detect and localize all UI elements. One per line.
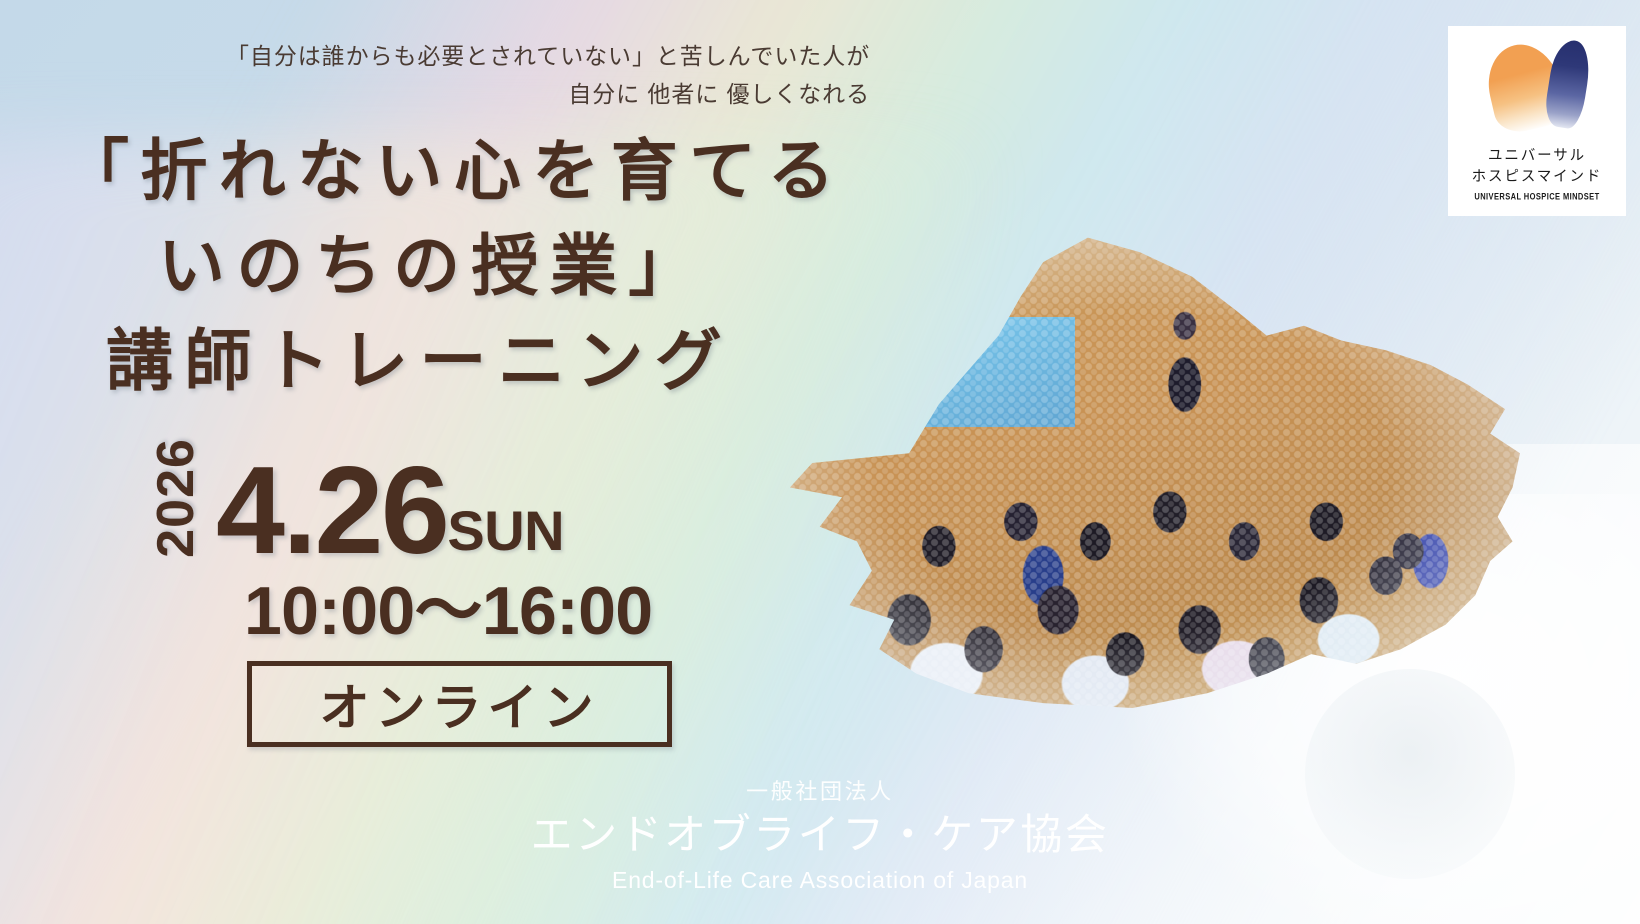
event-year: 2026 <box>150 438 202 558</box>
logo-text-jp-line-1: ユニバーサル <box>1472 146 1603 167</box>
logo-heart-icon <box>1483 38 1591 134</box>
lecture-photo <box>775 218 1520 708</box>
event-day: 4.26 <box>216 457 447 566</box>
title-line-3: 講師トレーニング <box>0 314 820 409</box>
date-row: 2026 4.26 SUN <box>0 436 700 566</box>
tagline-line-2: 自分に 他者に 優しくなれる <box>0 76 870 114</box>
poster-canvas: 「自分は誰からも必要とされていない」と苦しんでいた人が 自分に 他者に 優しくな… <box>0 0 1640 924</box>
event-day-of-week: SUN <box>447 503 564 559</box>
logo-text-jp: ユニバーサル ホスピスマインド <box>1472 146 1603 187</box>
title-line-1: 「折れない心を育てる <box>0 124 820 219</box>
logo-text-en: UNIVERSAL HOSPICE MINDSET <box>1474 191 1599 202</box>
photo-stipple-texture <box>775 218 1520 708</box>
organization-name-en: End-of-Life Care Association of Japan <box>0 865 1640 896</box>
venue-badge: オンライン <box>247 661 672 747</box>
organization-footer: 一般社団法人 エンドオブライフ・ケア協会 End-of-Life Care As… <box>0 778 1640 896</box>
venue-label: オンライン <box>320 668 600 740</box>
tagline-line-1: 「自分は誰からも必要とされていない」と苦しんでいた人が <box>0 38 870 76</box>
lecture-photo-image <box>775 218 1520 708</box>
tagline: 「自分は誰からも必要とされていない」と苦しんでいた人が 自分に 他者に 優しくな… <box>0 38 870 114</box>
event-time: 10:00〜16:00 <box>0 574 700 649</box>
logo-navy-leaf-icon <box>1542 38 1593 131</box>
title-line-2: いのちの授業」 <box>0 219 820 314</box>
photo-edge-fade <box>775 218 1520 708</box>
logo-text-jp-line-2: ホスピスマインド <box>1472 167 1603 188</box>
universal-hospice-mindset-logo: ユニバーサル ホスピスマインド UNIVERSAL HOSPICE MINDSE… <box>1448 26 1626 216</box>
organization-prefix: 一般社団法人 <box>0 778 1640 807</box>
organization-name-jp: エンドオブライフ・ケア協会 <box>0 808 1640 863</box>
event-date-block: 2026 4.26 SUN 10:00〜16:00 オンライン <box>0 436 700 747</box>
page-title: 「折れない心を育てる いのちの授業」 講師トレーニング <box>0 124 820 409</box>
